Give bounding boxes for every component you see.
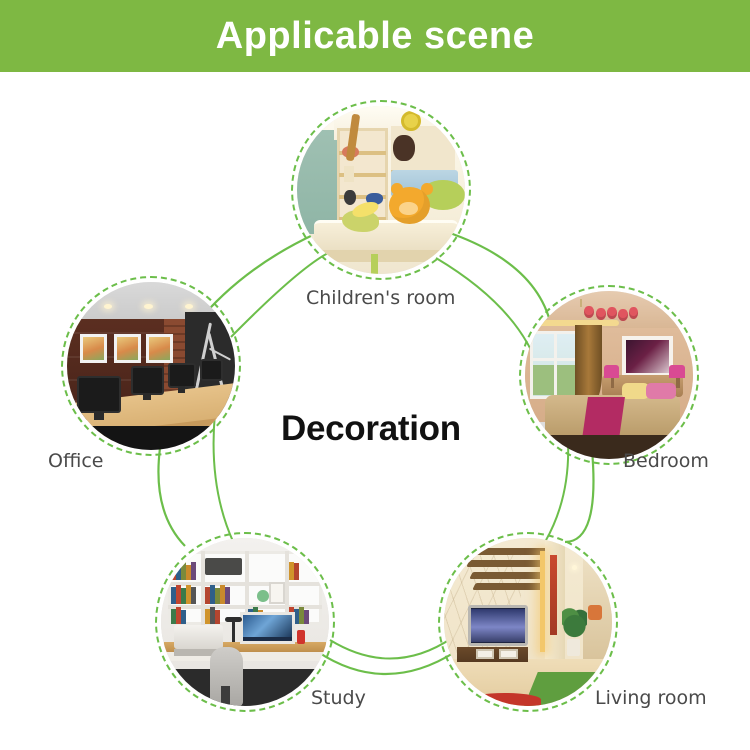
- living-room-label: Living room: [595, 687, 707, 709]
- applicable-scene-infographic: Applicable scene: [0, 0, 750, 750]
- bedroom-photo[interactable]: [525, 291, 693, 459]
- office-photo[interactable]: [67, 282, 235, 450]
- office-illustration: [67, 282, 235, 450]
- study-photo[interactable]: [161, 538, 329, 706]
- center-label: Decoration: [281, 409, 461, 449]
- header-banner: Applicable scene: [0, 0, 750, 72]
- childrens-room-label: Children's room: [306, 287, 455, 309]
- bedroom-label: Bedroom: [623, 450, 709, 472]
- office-label: Office: [48, 450, 103, 472]
- childrens-room-photo[interactable]: [297, 106, 465, 274]
- bedroom-illustration: [525, 291, 693, 459]
- page-title: Applicable scene: [216, 17, 534, 55]
- living-room-photo[interactable]: [444, 538, 612, 706]
- study-illustration: [161, 538, 329, 706]
- diagram-area: Children's room: [0, 72, 750, 750]
- study-label: Study: [311, 687, 366, 709]
- living-room-illustration: [444, 538, 612, 706]
- childrens-room-illustration: [297, 106, 465, 274]
